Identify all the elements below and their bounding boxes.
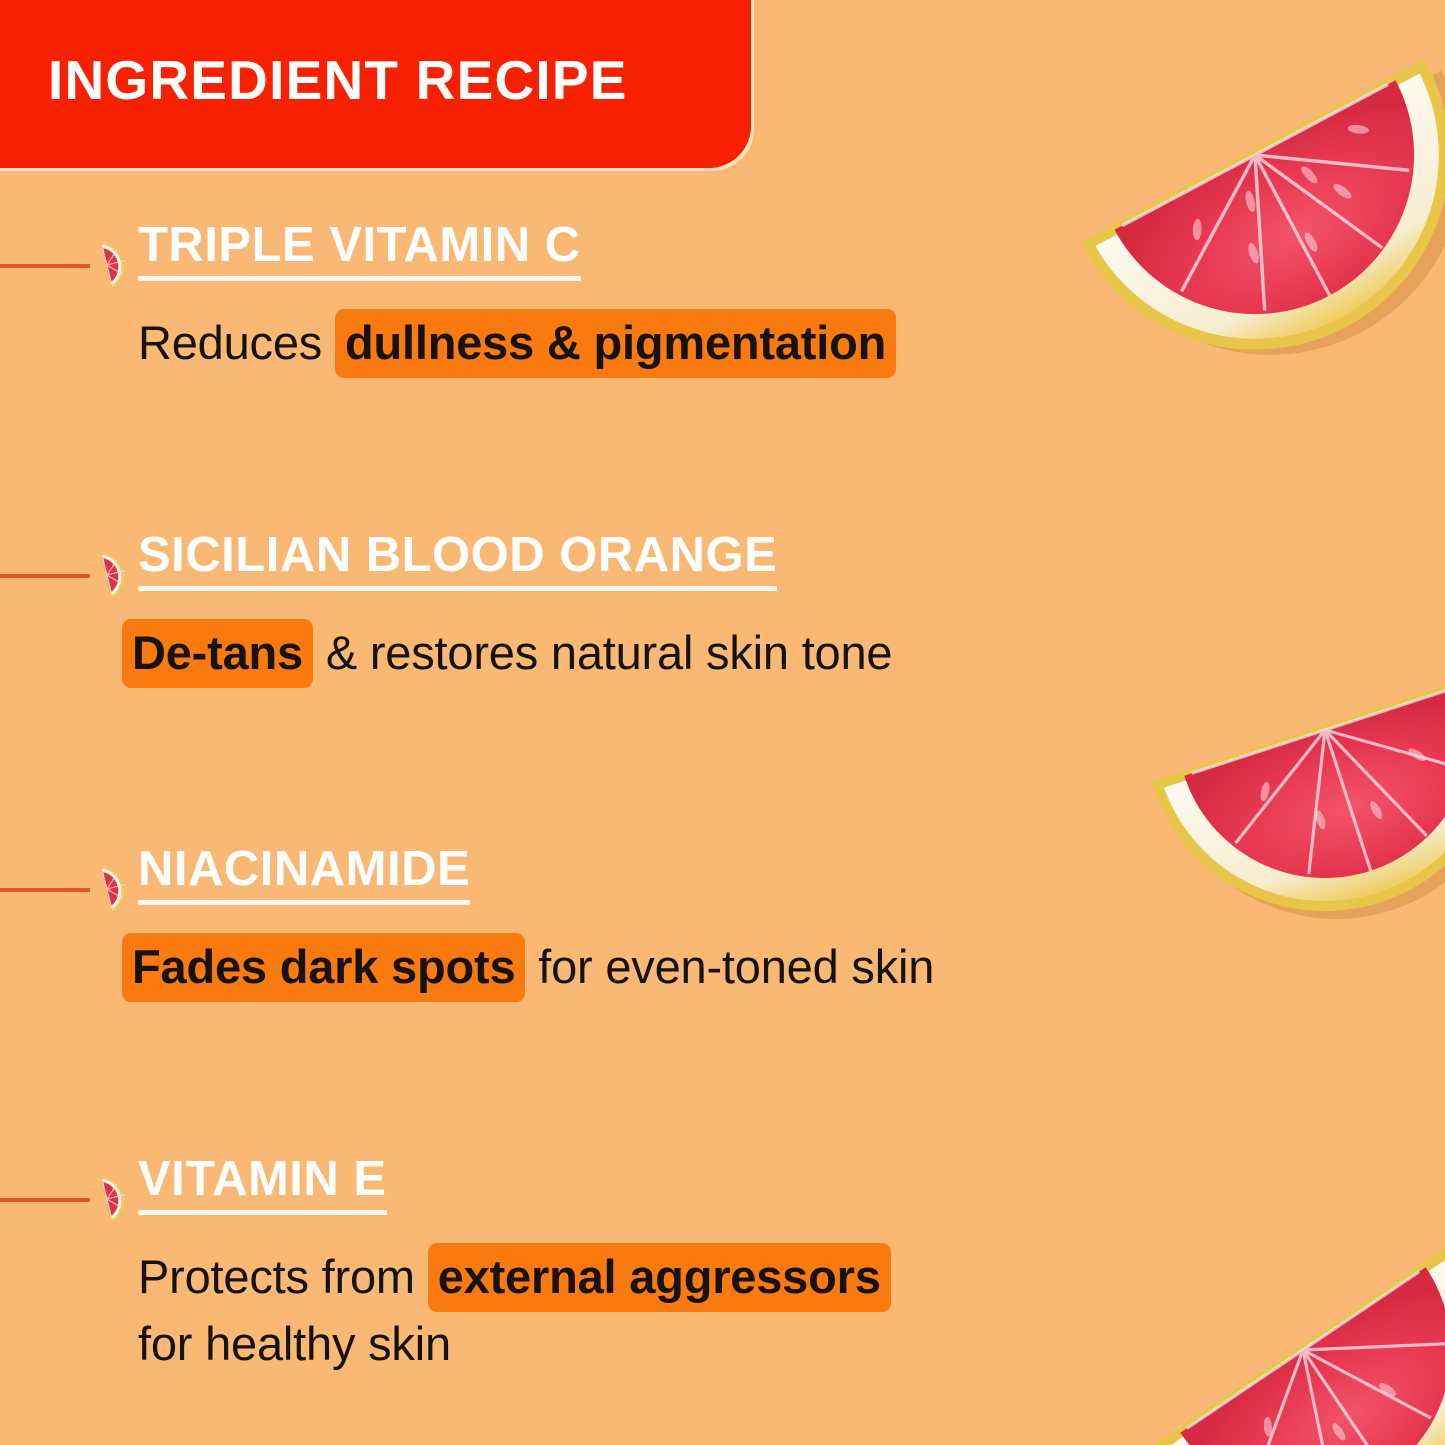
grapefruit-slice-icon <box>78 542 136 607</box>
ingredient-name: VITAMIN E <box>138 1154 387 1205</box>
description-highlight: Fades dark spots <box>122 933 525 1002</box>
description-suffix: for even-toned skin <box>525 940 934 993</box>
ingredient-description: Reduces dullness & pigmentation <box>138 312 896 373</box>
grapefruit-slice-icon <box>78 856 136 921</box>
page-title: INGREDIENT RECIPE <box>48 53 628 108</box>
ingredient-description: Fades dark spots for even-toned skin <box>122 936 934 997</box>
ingredient-name: SICILIAN BLOOD ORANGE <box>138 530 777 581</box>
ingredient-description: De-tans & restores natural skin tone <box>122 622 892 683</box>
ingredient-name-underline <box>138 276 581 281</box>
connector-line <box>0 574 90 578</box>
ingredient-name-block: TRIPLE VITAMIN C <box>138 220 581 281</box>
ingredient-name-underline <box>138 900 470 905</box>
description-highlight: external aggressors <box>428 1243 891 1312</box>
description-highlight: dullness & pigmentation <box>335 309 896 378</box>
description-suffix: & restores natural skin tone <box>313 626 892 679</box>
connector-line <box>0 1198 90 1202</box>
ingredient-recipe-banner: INGREDIENT RECIPE <box>0 0 751 168</box>
ingredient-description: Protects from external aggressors for he… <box>138 1246 891 1374</box>
description-prefix: Reduces <box>138 316 335 369</box>
ingredient-name-block: VITAMIN E <box>138 1154 387 1215</box>
connector-line <box>0 888 90 892</box>
ingredient-name-underline <box>138 586 777 591</box>
ingredient-name-block: NIACINAMIDE <box>138 844 470 905</box>
ingredient-list: TRIPLE VITAMIN C Reduces dullness & pigm… <box>0 0 1445 1445</box>
ingredient-name-underline <box>138 1210 387 1215</box>
grapefruit-slice-icon <box>78 232 136 297</box>
ingredient-name-block: SICILIAN BLOOD ORANGE <box>138 530 777 591</box>
ingredient-name: TRIPLE VITAMIN C <box>138 220 581 271</box>
description-prefix: Protects from <box>138 1250 428 1303</box>
connector-line <box>0 264 90 268</box>
description-highlight: De-tans <box>122 619 313 688</box>
grapefruit-slice-icon <box>78 1166 136 1231</box>
description-line-2: for healthy skin <box>138 1313 891 1374</box>
ingredient-name: NIACINAMIDE <box>138 844 470 895</box>
